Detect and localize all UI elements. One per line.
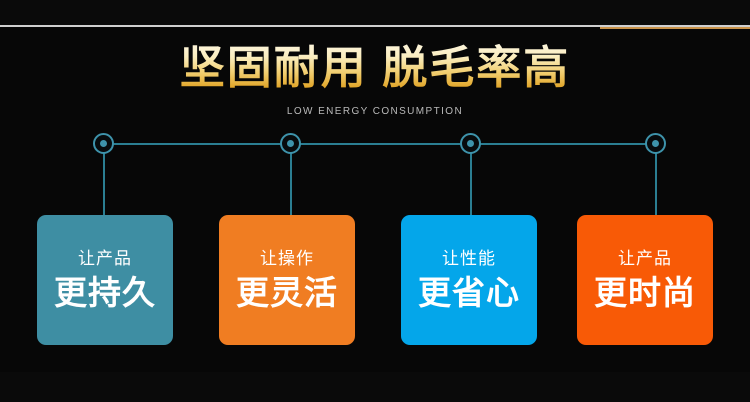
feature-card-1-title: 更持久 bbox=[54, 274, 156, 312]
connector-vertical-line-3 bbox=[470, 144, 472, 215]
feature-card-4[interactable]: 让产品 更时尚 bbox=[577, 215, 713, 345]
feature-card-1[interactable]: 让产品 更持久 bbox=[37, 215, 173, 345]
headline-subtitle: LOW ENERGY CONSUMPTION bbox=[0, 106, 750, 117]
background-lower-panel bbox=[0, 372, 750, 402]
feature-card-2-title: 更灵活 bbox=[236, 274, 338, 312]
headline-title: 坚固耐用 脱毛率高 bbox=[0, 42, 750, 94]
feature-card-3[interactable]: 让性能 更省心 bbox=[401, 215, 537, 345]
connector-vertical-line-1 bbox=[103, 144, 105, 215]
feature-card-1-subtitle: 让产品 bbox=[78, 248, 132, 270]
top-divider-rule-gold bbox=[600, 27, 750, 29]
feature-card-3-subtitle: 让性能 bbox=[442, 248, 496, 270]
feature-card-4-title: 更时尚 bbox=[594, 274, 696, 312]
connector-vertical-line-2 bbox=[290, 144, 292, 215]
feature-card-4-subtitle: 让产品 bbox=[618, 248, 672, 270]
promo-banner: 坚固耐用 脱毛率高 LOW ENERGY CONSUMPTION 让产品 更持久… bbox=[0, 0, 750, 402]
connector-node-icon-1 bbox=[93, 133, 114, 154]
connector-node-icon-3 bbox=[460, 133, 481, 154]
feature-card-2[interactable]: 让操作 更灵活 bbox=[219, 215, 355, 345]
connector-node-icon-4 bbox=[645, 133, 666, 154]
feature-card-3-title: 更省心 bbox=[418, 274, 520, 312]
connector-horizontal-line bbox=[103, 143, 655, 145]
connector-vertical-line-4 bbox=[655, 144, 657, 215]
background-upper-panel bbox=[0, 0, 750, 27]
feature-card-2-subtitle: 让操作 bbox=[260, 248, 314, 270]
connector-node-icon-2 bbox=[280, 133, 301, 154]
